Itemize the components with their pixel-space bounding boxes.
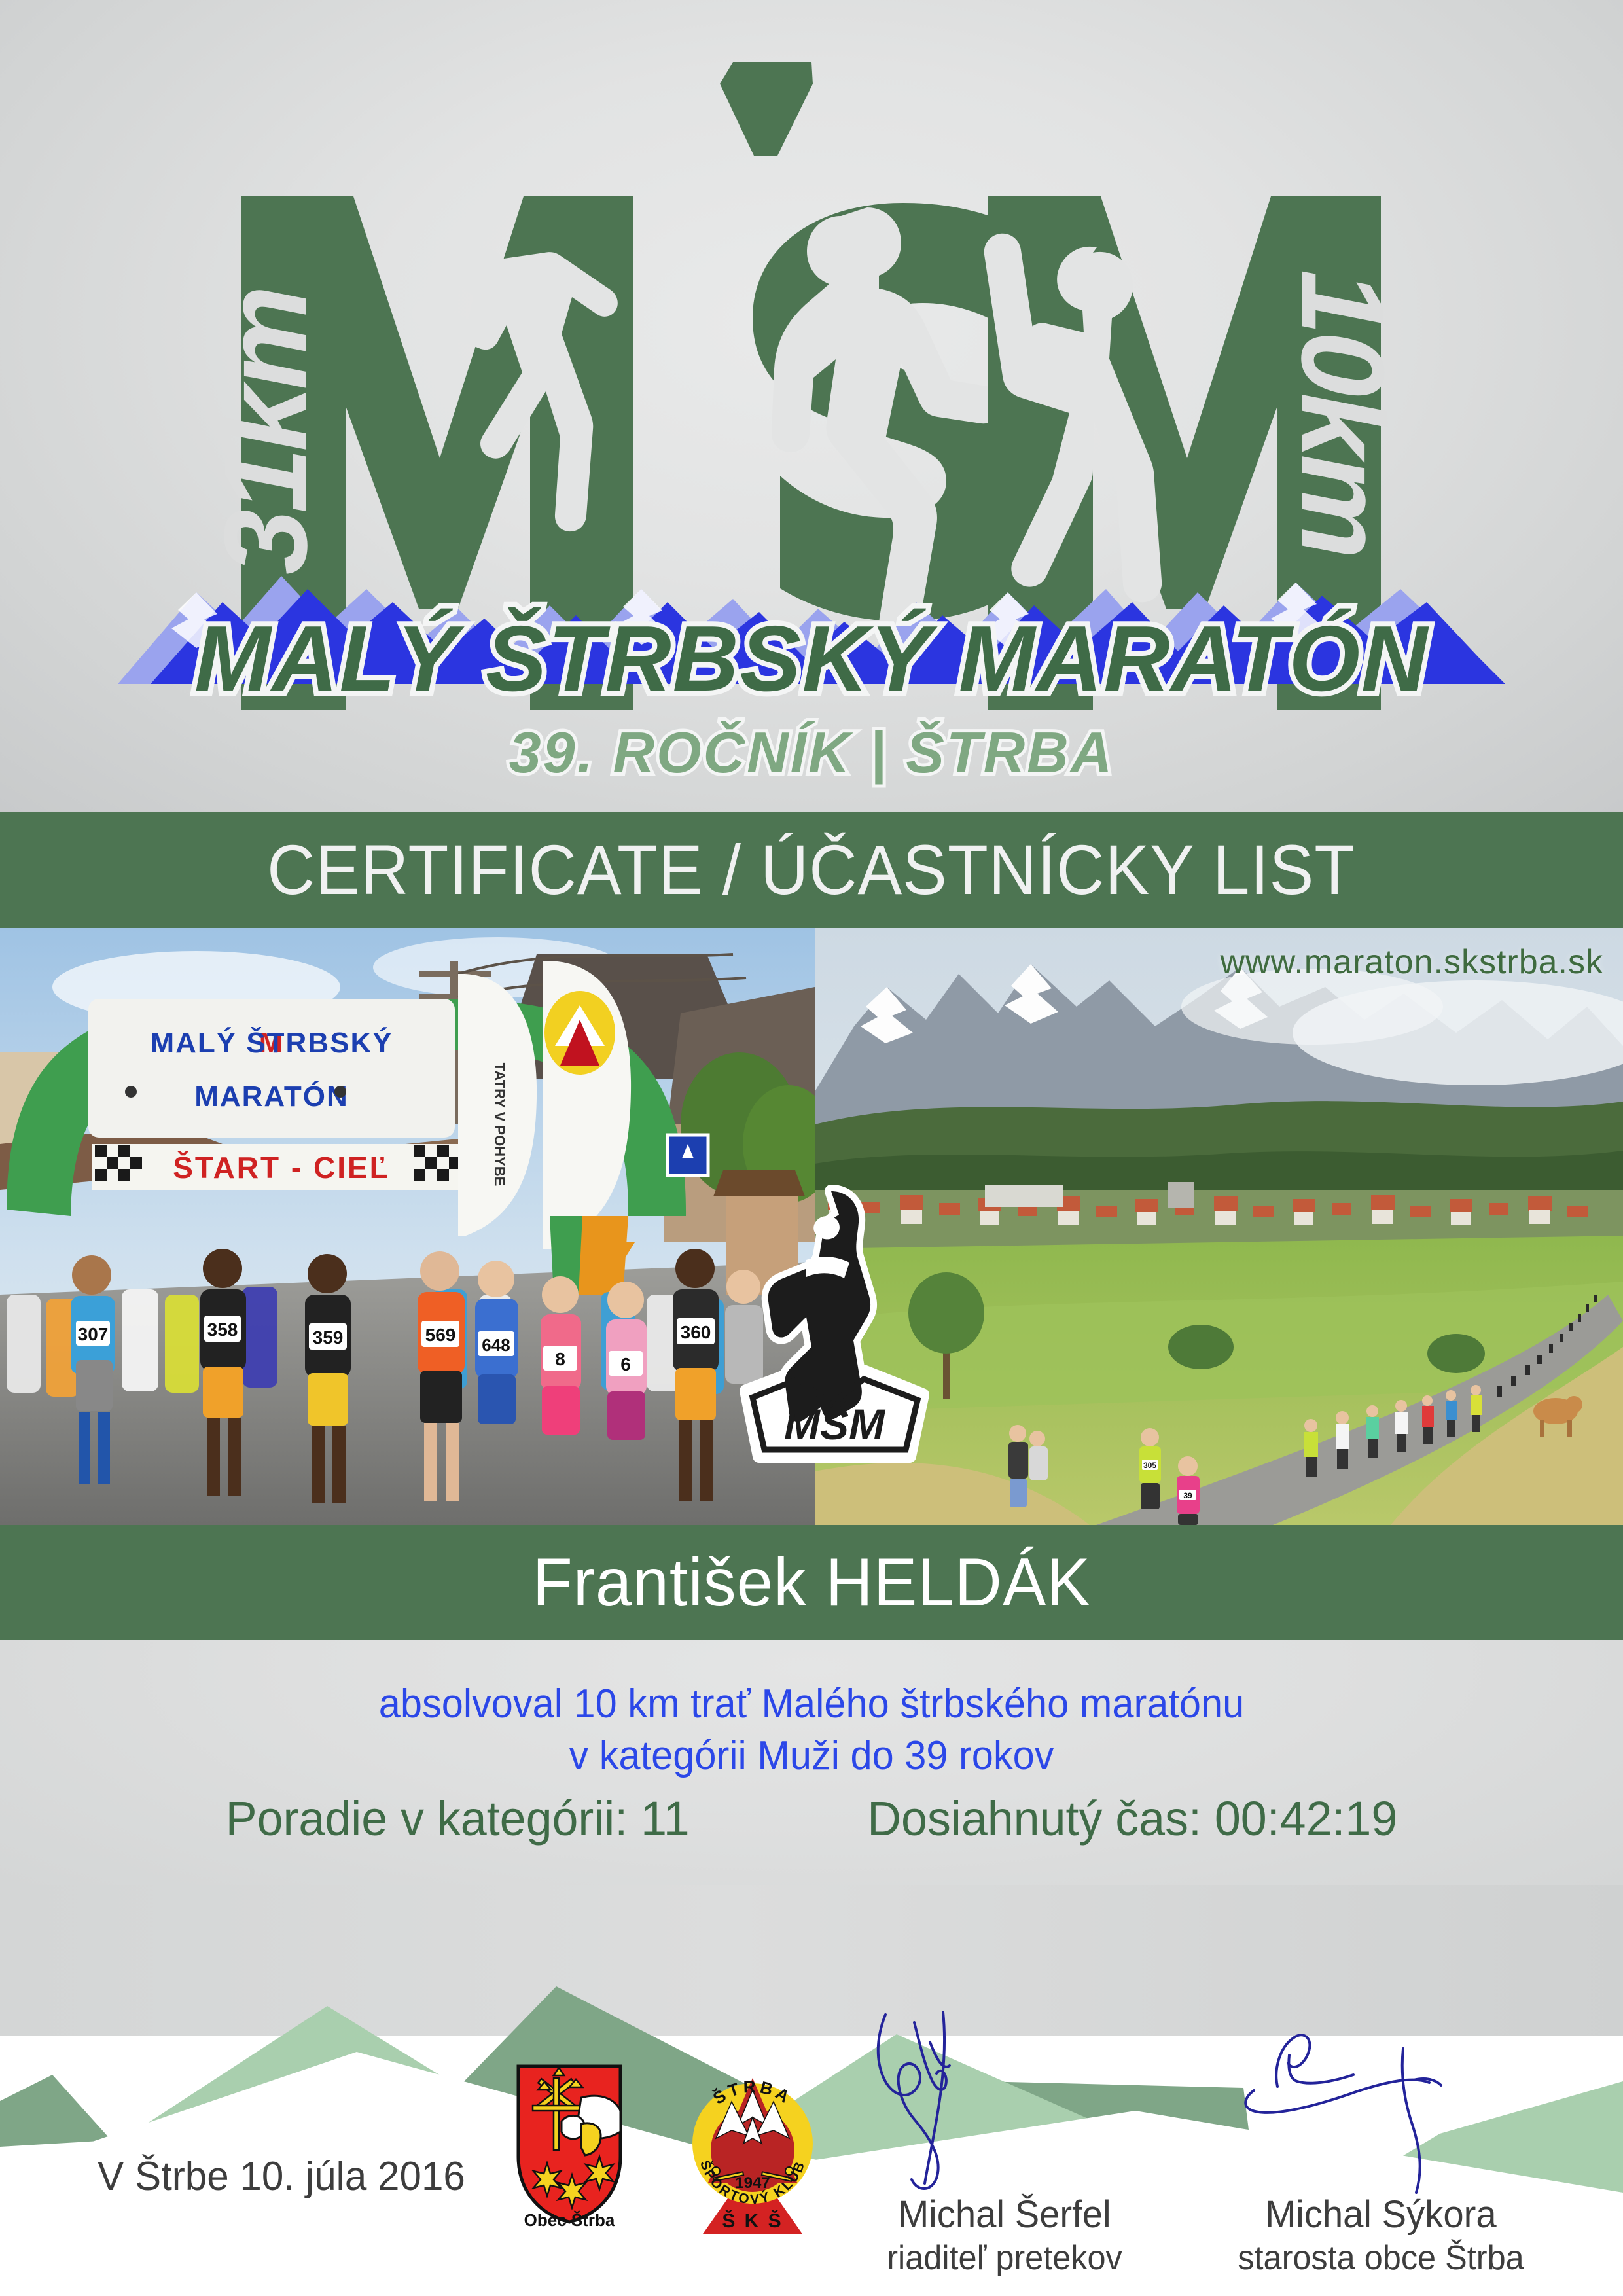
club-year: 1947	[735, 2174, 770, 2192]
flag-text: TATRY V POHYBE	[491, 1063, 508, 1187]
results-row: Poradie v kategórii: 11 Dosiahnutý čas: …	[24, 1791, 1599, 1846]
logo-distance-left: 31km	[200, 289, 332, 575]
result-body-area: absolvoval 10 km trať Malého štrbského m…	[0, 1640, 1623, 1915]
logo-distance-right: 10km	[1277, 270, 1408, 555]
msm-runner-badge: MŠM	[733, 1175, 936, 1476]
bib-number: 360	[681, 1322, 711, 1342]
signature-ink-director	[815, 2003, 1194, 2199]
arch-text-line1-full: MALÝ ŠTRBSKÝ	[150, 1026, 393, 1059]
event-subtitle: 39. ROČNÍK | ŠTRBA	[509, 720, 1115, 785]
bib-number: 569	[425, 1325, 456, 1345]
arch-banner-text: ŠTART - CIEĽ	[173, 1151, 390, 1185]
place-and-date: V Štrbe 10. júla 2016	[84, 2153, 478, 2200]
certificate-page: 31km 10km	[0, 0, 1623, 2296]
foreground-runner-1: 305	[1139, 1428, 1161, 1509]
description-line-1: absolvoval 10 km trať Malého štrbského m…	[33, 1678, 1591, 1730]
director-name: Michal Šerfel	[821, 2193, 1189, 2236]
certificate-title: CERTIFICATE / ÚČASTNÍCKY LIST	[267, 834, 1355, 905]
badge-label: MŠM	[784, 1400, 886, 1448]
event-title: MALÝ ŠTRBSKÝ MARATÓN	[194, 606, 1429, 710]
msm-logo: 31km 10km	[0, 0, 1623, 812]
signature-ink-mayor	[1191, 2003, 1571, 2199]
arch-text-line2: MARATÓN	[194, 1080, 349, 1113]
participant-name-band: František HELDÁK	[0, 1525, 1623, 1640]
mayor-name: Michal Sýkora	[1197, 2193, 1565, 2236]
finish-time: Dosiahnutý čas: 00:42:19	[867, 1791, 1397, 1846]
achievement-description: absolvoval 10 km trať Malého štrbského m…	[33, 1678, 1591, 1782]
signature-block-mayor: Michal Sýkora starosta obce Štrba	[1191, 2003, 1571, 2296]
bib-number: 359	[313, 1327, 344, 1348]
photo-start-line: M MALÝ ŠTRBSKÝ MARATÓN ŠT	[0, 928, 815, 1525]
crest-caption: Obec Štrba	[524, 2210, 615, 2230]
signature-block-director: Michal Šerfel riaditeľ pretekov	[815, 2003, 1194, 2296]
participant-name: František HELDÁK	[532, 1549, 1090, 1617]
runner-8: 8	[541, 1276, 581, 1435]
website-url[interactable]: www.maraton.skstrba.sk	[1221, 942, 1604, 982]
bib-number: 6	[620, 1354, 631, 1374]
category-rank: Poradie v kategórii: 11	[226, 1791, 690, 1846]
foreground-runner-2: 39	[1177, 1456, 1200, 1525]
obec-strba-crest: Obec Štrba	[504, 2058, 635, 2230]
logo-caron	[720, 62, 813, 156]
sks-club-logo: ŠTRBA ŠPORTOVÝ KLUB 1947 Š K Š	[681, 2052, 825, 2242]
certificate-title-band: CERTIFICATE / ÚČASTNÍCKY LIST	[0, 812, 1623, 928]
bib-number: 305	[1143, 1461, 1156, 1470]
logo-header-area: 31km 10km	[0, 0, 1623, 812]
bib-number: 8	[555, 1349, 565, 1369]
runner-648: 648	[475, 1261, 518, 1424]
photo-landscape: 305 39	[815, 928, 1623, 1525]
runner-6: 6	[606, 1282, 647, 1440]
description-line-2: v kategórii Muži do 39 rokov	[33, 1730, 1591, 1782]
bib-number: 39	[1183, 1491, 1192, 1500]
club-bottom-text: Š K Š	[722, 2210, 783, 2232]
bib-number: 648	[482, 1335, 510, 1355]
director-role: riaditeľ pretekov	[821, 2238, 1189, 2278]
mayor-role: starosta obce Štrba	[1197, 2238, 1565, 2278]
bib-number: 307	[78, 1324, 109, 1344]
bib-number: 358	[207, 1319, 238, 1340]
